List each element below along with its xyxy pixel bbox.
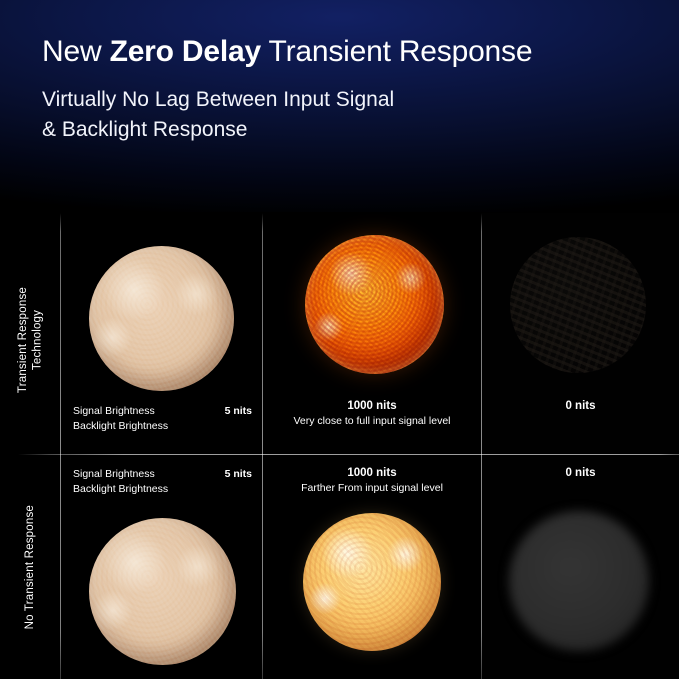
backlight-brightness-label: Backlight Brightness [73,482,168,497]
caption-brightness-readout: Signal Brightness 5 nits Backlight Brigh… [73,404,252,434]
sun-disc [89,518,236,665]
cell-row1-third-frame: 0 nits [482,213,679,454]
sun-image-black [510,237,646,373]
row-label-text: Transient Response Technology [16,287,45,393]
backlight-brightness-line: Backlight Brightness [73,482,252,497]
sun-disc [303,513,441,651]
sun-image-hot-orange [305,235,444,374]
sun-rim-glow [305,235,444,374]
nits-note: Farther From input signal level [263,482,481,494]
sun-image-gray [509,511,649,651]
header-banner: New Zero Delay Transient Response Virtua… [0,0,679,212]
nits-value: 0 nits [482,467,679,479]
cell-row1-second-frame: 1000 nits Very close to full input signa… [263,213,481,454]
nits-note: Very close to full input signal level [263,415,481,427]
sun-disc [305,235,444,374]
signal-brightness-line: Signal Brightness 5 nits [73,404,252,419]
signal-brightness-value: 5 nits [225,467,252,482]
page-title: New Zero Delay Transient Response [42,34,679,69]
subtitle-line-1: Virtually No Lag Between Input Signal [42,85,679,115]
signal-brightness-line: Signal Brightness 5 nits [73,467,252,482]
nits-value: 1000 nits [263,400,481,412]
title-strong: Zero Delay [110,35,261,68]
sun-image-washed-yellow [303,513,441,651]
title-prefix: New [42,35,110,68]
backlight-brightness-line: Backlight Brightness [73,419,252,434]
caption-brightness-readout: 0 nits [482,467,679,482]
signal-brightness-label: Signal Brightness [73,467,155,482]
page-subtitle: Virtually No Lag Between Input Signal & … [42,85,679,145]
signal-brightness-value: 5 nits [225,404,252,419]
sun-image-pale [89,518,236,665]
nits-value: 1000 nits [263,467,481,479]
cell-row2-second-frame: 1000 nits Farther From input signal leve… [263,455,481,679]
cell-row2-first-frame: Signal Brightness 5 nits Backlight Brigh… [61,455,262,679]
row-label-text: No Transient Response [23,505,37,629]
row-label-transient-response-technology: Transient Response Technology [0,226,60,454]
subtitle-line-2: & Backlight Response [42,115,679,145]
sun-disc [509,511,649,651]
caption-brightness-readout: 1000 nits Farther From input signal leve… [263,467,481,494]
signal-brightness-label: Signal Brightness [73,404,155,419]
title-suffix: Transient Response [261,35,532,68]
caption-brightness-readout: 0 nits [482,400,679,415]
row-label-no-transient-response: No Transient Response [0,455,60,679]
sun-disc [510,237,646,373]
sun-disc [89,246,234,391]
cell-row1-first-frame: Signal Brightness 5 nits Backlight Brigh… [61,213,262,454]
caption-brightness-readout: 1000 nits Very close to full input signa… [263,400,481,427]
comparison-grid: First Frame First Frame Second Frame Ins… [0,212,679,679]
backlight-brightness-label: Backlight Brightness [73,419,168,434]
infographic-root: New Zero Delay Transient Response Virtua… [0,0,679,679]
sun-image-pale [89,246,234,391]
cell-row2-third-frame: 0 nits [482,455,679,679]
caption-brightness-readout: Signal Brightness 5 nits Backlight Brigh… [73,467,252,497]
nits-value: 0 nits [482,400,679,412]
